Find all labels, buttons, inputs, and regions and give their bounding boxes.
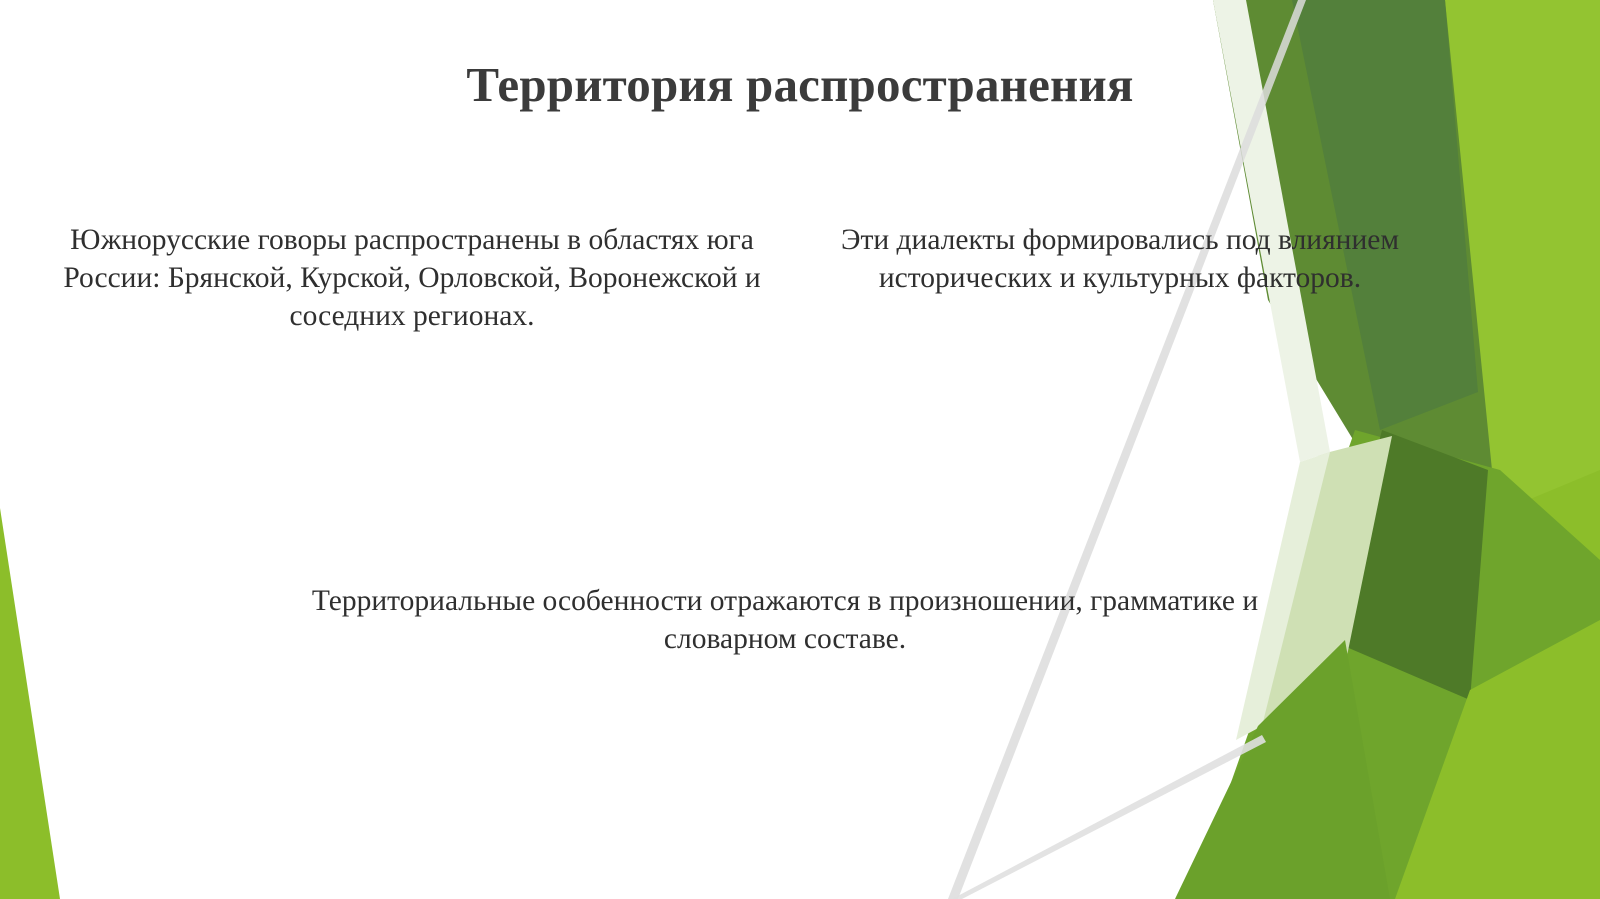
body-paragraph-left: Южнорусские говоры распространены в обла… xyxy=(62,222,762,335)
presentation-slide: Территория распространения Южнорусские г… xyxy=(0,0,1600,899)
body-paragraph-right: Эти диалекты формировались под влиянием … xyxy=(760,222,1480,298)
body-paragraph-bottom: Территориальные особенности отражаются в… xyxy=(290,583,1280,659)
page-title: Территория распространения xyxy=(120,58,1480,113)
slide-content: Территория распространения Южнорусские г… xyxy=(0,0,1600,899)
